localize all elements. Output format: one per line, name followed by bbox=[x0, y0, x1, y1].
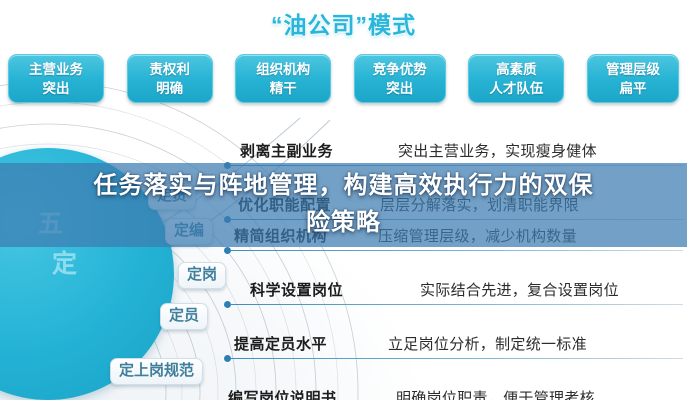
wuding-line-2: 定 bbox=[52, 244, 79, 284]
page-title: “油公司”模式 bbox=[0, 6, 687, 40]
table-row: 编写岗位说明书 明确岗位职责，便于管理考核 bbox=[228, 387, 683, 400]
row-key: 剥离主副业务 bbox=[240, 140, 333, 161]
table-row: 科学设置岗位 实际结合先进，复合设置岗位 bbox=[228, 279, 683, 310]
row-underline bbox=[230, 358, 683, 359]
infographic-canvas: “油公司”模式 主营业务 突出 责权利 明确 组织机构 精干 竞争优势 突出 高… bbox=[0, 0, 687, 400]
pill-competitive-edge[interactable]: 竞争优势 突出 bbox=[354, 54, 446, 103]
attribute-pill-row: 主营业务 突出 责权利 明确 组织机构 精干 竞争优势 突出 高素质 人才队伍 … bbox=[8, 54, 679, 106]
pill-talent-team[interactable]: 高素质 人才队伍 bbox=[468, 54, 564, 103]
row-key: 编写岗位说明书 bbox=[228, 387, 337, 400]
row-value: 突出主营业务，实现瘦身健体 bbox=[398, 140, 597, 161]
pill-rights-duties[interactable]: 责权利 明确 bbox=[127, 54, 213, 103]
row-underline bbox=[230, 304, 683, 305]
chain-badge-dinggang[interactable]: 定岗 bbox=[178, 262, 226, 289]
chain-badge-dingshangang[interactable]: 定上岗规范 bbox=[110, 358, 203, 385]
pill-main-business[interactable]: 主营业务 突出 bbox=[8, 54, 104, 103]
row-value: 实际结合先进，复合设置岗位 bbox=[420, 279, 619, 300]
table-row: 提高定员水平 立足岗位分析，制定统一标准 bbox=[228, 333, 683, 364]
overlay-banner-text: 任务落实与阵地管理，构建高效执行力的双保 险策略 bbox=[0, 167, 687, 241]
row-value: 立足岗位分析，制定统一标准 bbox=[388, 333, 587, 354]
pill-org-structure[interactable]: 组织机构 精干 bbox=[235, 54, 331, 103]
overlay-line-2: 险策略 bbox=[0, 204, 687, 241]
chain-badge-dingyuan[interactable]: 定员 bbox=[160, 303, 208, 330]
row-underline bbox=[230, 250, 683, 251]
pill-flat-management[interactable]: 管理层级 扁平 bbox=[587, 54, 679, 103]
row-key: 提高定员水平 bbox=[234, 333, 327, 354]
row-value: 明确岗位职责，便于管理考核 bbox=[396, 387, 595, 400]
overlay-line-1: 任务落实与阵地管理，构建高效执行力的双保 bbox=[0, 167, 687, 204]
row-key: 科学设置岗位 bbox=[250, 279, 343, 300]
